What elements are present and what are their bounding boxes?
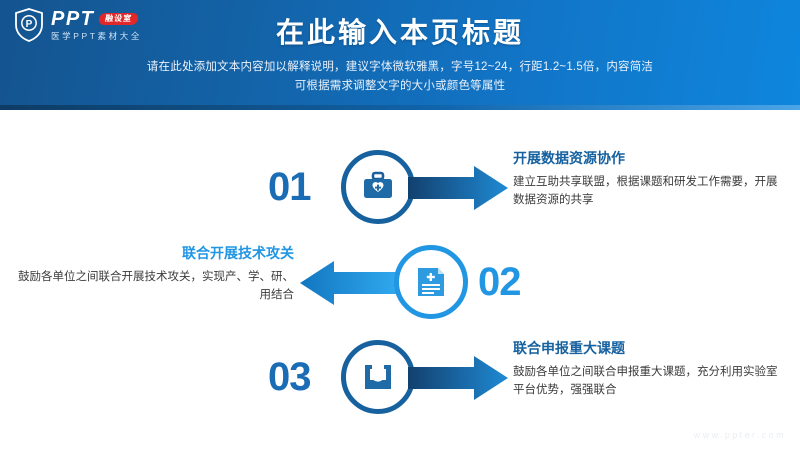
step-icon-circle-03 [341,340,415,414]
step-body-02: 鼓励各单位之间联合开展技术攻关，实现产、学、研、用结合 [18,268,294,304]
step-icon-circle-01 [341,150,415,224]
arrow-right-03 [408,356,508,400]
step-text-02: 联合开展技术攻关 鼓励各单位之间联合开展技术攻关，实现产、学、研、用结合 [18,243,294,304]
step-heading-02: 联合开展技术攻关 [18,243,294,263]
step-icon-circle-02 [394,245,468,319]
content-row-2: 联合开展技术攻关 鼓励各单位之间联合开展技术攻关，实现产、学、研、用结合 [0,243,800,323]
page-title: 在此输入本页标题 [0,11,800,51]
arrow-right-01 [408,166,508,210]
subtitle-line-2: 可根据需求调整文字的大小或颜色等属性 [0,77,800,96]
archive-refresh-icon [361,360,395,394]
step-text-01: 开展数据资源协作 建立互助共享联盟，根据课题和研发工作需要，开展数据资源的共享 [513,148,785,209]
page-subtitle: 请在此处添加文本内容加以解释说明，建议字体微软雅黑，字号12~24，行距1.2~… [0,58,800,96]
step-number-02: 02 [478,257,521,307]
step-body-03: 鼓励各单位之间联合申报重大课题，充分利用实验室平台优势，强强联合 [513,363,785,399]
footer-watermark: www.ppter.com [694,430,786,440]
content-row-3: 03 联合申报重大课题 鼓励各单位之间联合申报重大 [0,338,800,418]
medical-report-icon [414,264,448,300]
arrow-left-02 [300,261,400,305]
slide-header: P PPT 融设室 医学PPT素材大全 在此输入本页标题 请在此处添加文本内容加… [0,0,800,110]
step-number-03: 03 [268,352,311,402]
step-heading-03: 联合申报重大课题 [513,338,785,358]
content-row-1: 01 开展数据资源协作 建立互助共享联盟，根据课题 [0,148,800,228]
subtitle-line-1: 请在此处添加文本内容加以解释说明，建议字体微软雅黑，字号12~24，行距1.2~… [0,58,800,77]
medical-kit-icon [360,169,396,205]
step-body-01: 建立互助共享联盟，根据课题和研发工作需要，开展数据资源的共享 [513,173,785,209]
step-text-03: 联合申报重大课题 鼓励各单位之间联合申报重大课题，充分利用实验室平台优势，强强联… [513,338,785,399]
slide: P PPT 融设室 医学PPT素材大全 在此输入本页标题 请在此处添加文本内容加… [0,0,800,450]
step-heading-01: 开展数据资源协作 [513,148,785,168]
step-number-01: 01 [268,162,311,212]
